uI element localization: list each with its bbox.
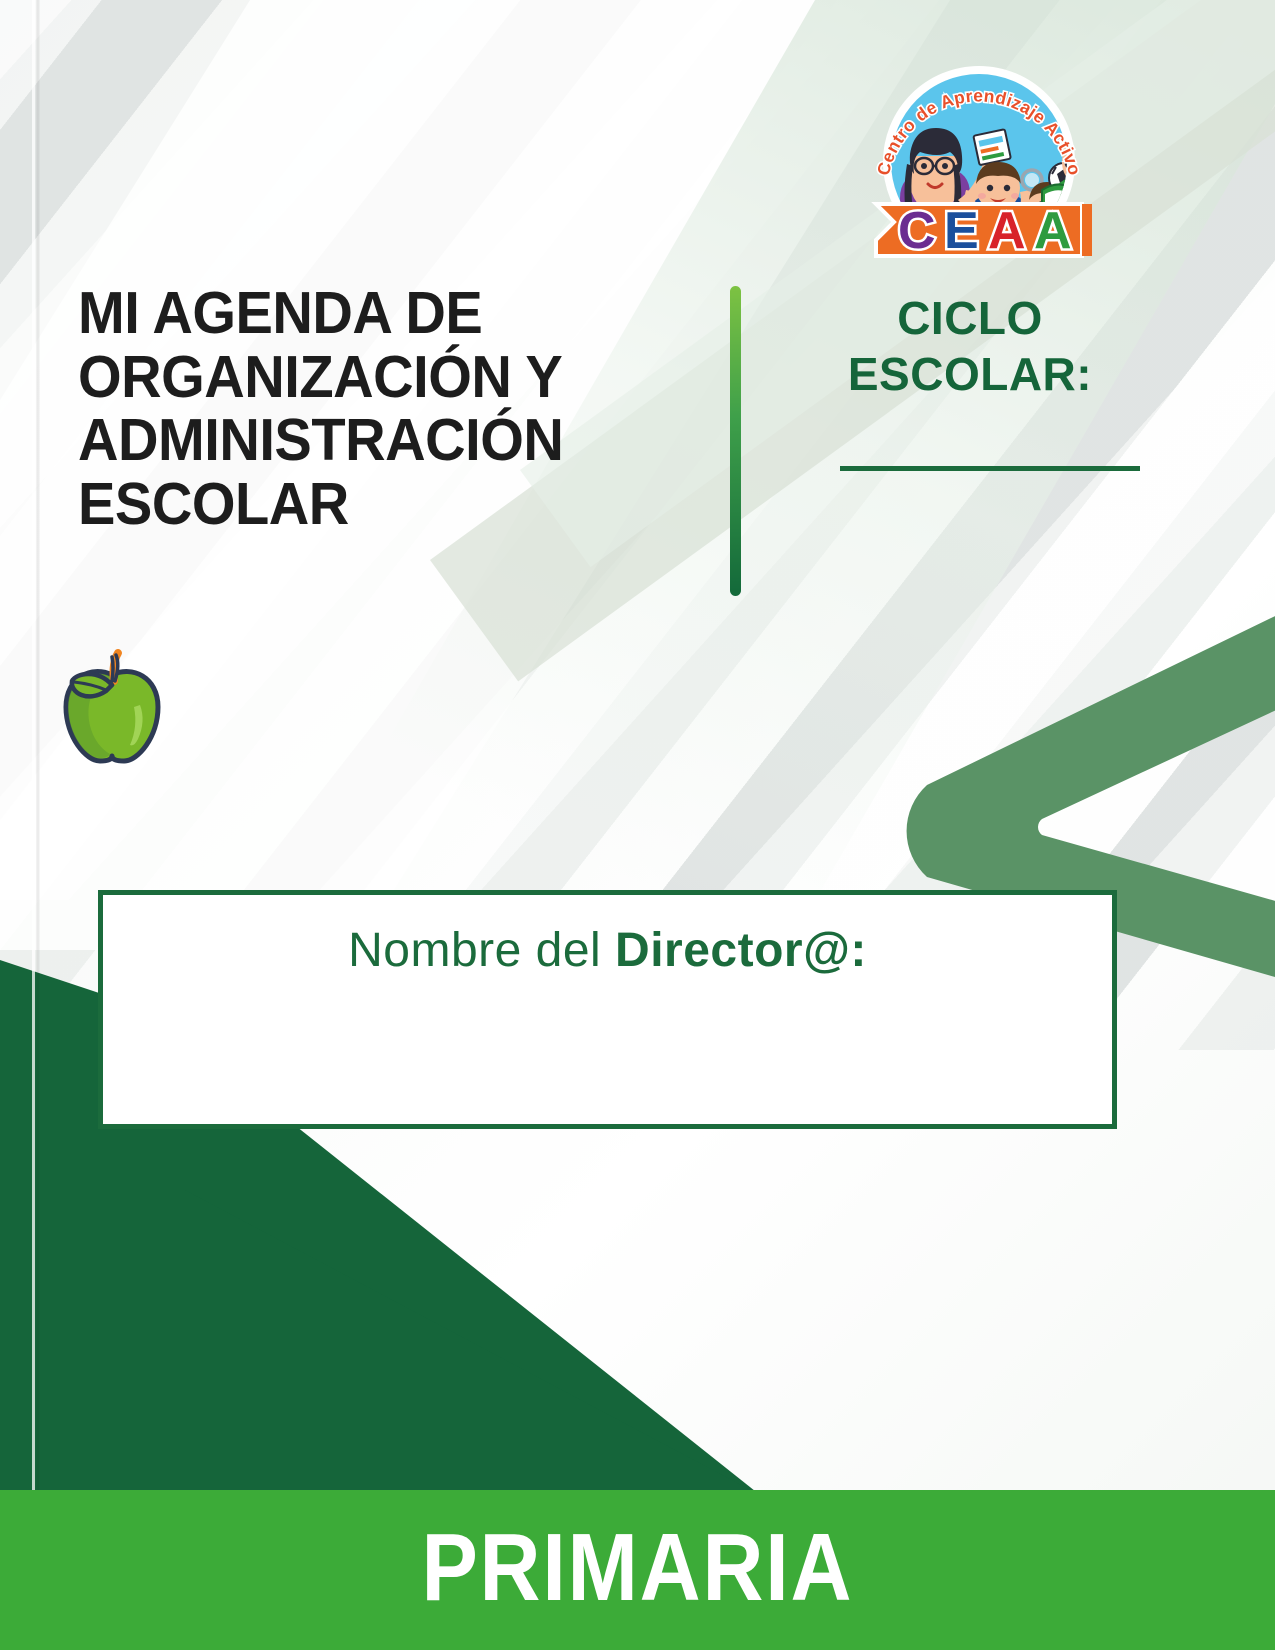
svg-text:A: A [1034, 202, 1072, 258]
title-line-3: ADMINISTRACIÓN [78, 409, 667, 473]
title-line-2: ORGANIZACIÓN Y [78, 346, 667, 410]
book-spine-line [36, 0, 40, 1650]
page-title: MI AGENDA DE ORGANIZACIÓN Y ADMINISTRACI… [78, 282, 667, 537]
ciclo-escolar-line-1: CICLO [790, 290, 1150, 346]
ciclo-escolar-label: CICLO ESCOLAR: [790, 290, 1150, 402]
ciclo-escolar-line-2: ESCOLAR: [790, 346, 1150, 402]
ceaa-logo: Centro de Aprendizaje Activo C E A A [866, 52, 1092, 258]
title-line-4: ESCOLAR [78, 473, 667, 537]
title-line-1: MI AGENDA DE [78, 282, 667, 346]
director-name-label: Nombre del Director@: [103, 923, 1112, 978]
level-banner: PRIMARIA [0, 1490, 1275, 1650]
director-name-box[interactable]: Nombre del Director@: [98, 890, 1117, 1129]
svg-text:C: C [898, 202, 936, 258]
book-spine-highlight [32, 0, 35, 1650]
apple-icon [58, 645, 166, 767]
vertical-divider [730, 286, 741, 596]
ciclo-escolar-write-line[interactable] [840, 466, 1140, 471]
director-label-regular: Nombre del [348, 924, 615, 977]
svg-text:A: A [988, 202, 1026, 258]
cover-page: Centro de Aprendizaje Activo C E A A MI … [0, 0, 1275, 1650]
level-banner-label: PRIMARIA [422, 1520, 854, 1616]
svg-text:E: E [944, 202, 979, 258]
director-label-bold: Director@: [615, 924, 867, 977]
